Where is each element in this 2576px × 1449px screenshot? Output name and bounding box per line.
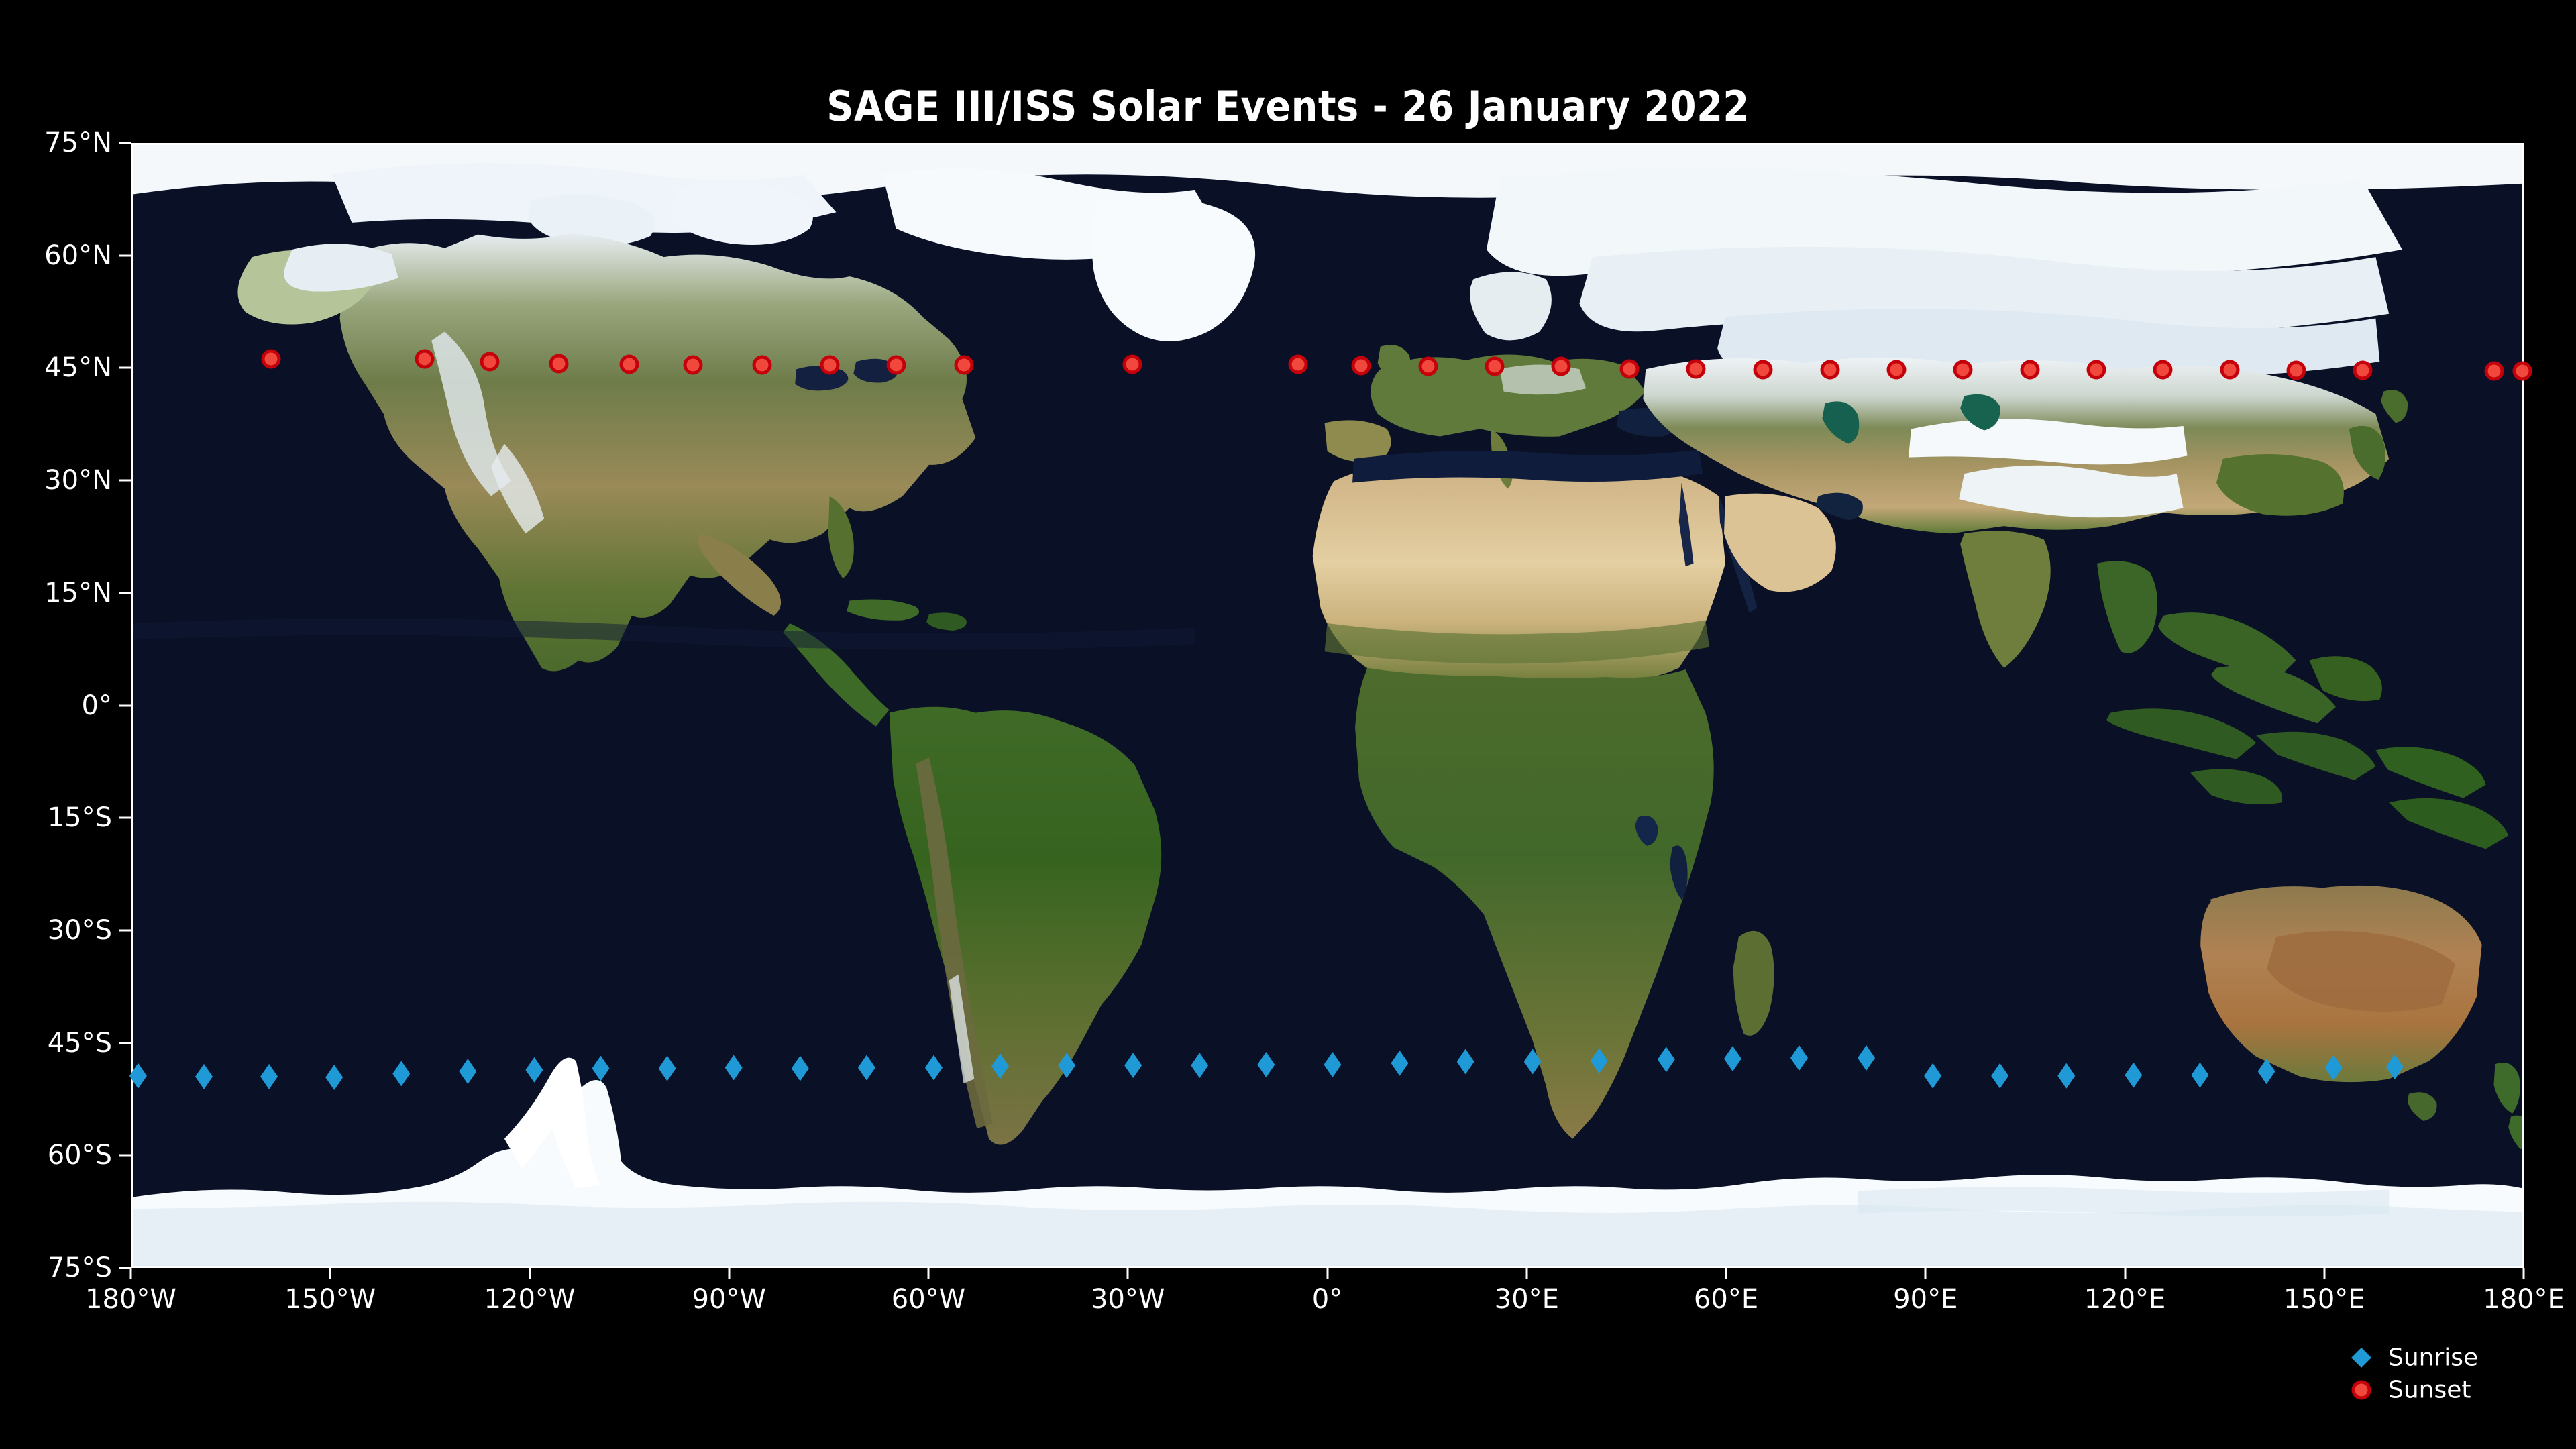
sunset-marker[interactable] xyxy=(484,356,496,368)
x-tick-label: 60°W xyxy=(892,1284,965,1315)
x-tick-mark xyxy=(2124,1268,2126,1279)
sunset-legend-icon xyxy=(2355,1384,2368,1397)
y-tick-label: 75°S xyxy=(48,1252,112,1283)
x-tick-label: 60°E xyxy=(1694,1284,1758,1315)
y-tick-mark xyxy=(119,704,131,706)
y-tick-label: 15°S xyxy=(48,802,112,833)
sunset-marker[interactable] xyxy=(1890,363,1902,376)
legend: SunriseSunset xyxy=(2348,1342,2569,1406)
x-tick-mark xyxy=(1127,1268,1129,1279)
figure-root: SAGE III/ISS Solar Events - 26 January 2… xyxy=(0,0,2576,1449)
legend-item-sunrise[interactable]: Sunrise xyxy=(2348,1342,2569,1374)
sunset-marker[interactable] xyxy=(623,358,636,370)
y-tick-label: 45°N xyxy=(44,352,112,383)
y-tick-mark xyxy=(119,480,131,482)
y-tick-mark xyxy=(119,592,131,594)
sunset-marker[interactable] xyxy=(418,352,431,365)
x-tick-label: 90°E xyxy=(1893,1284,1957,1315)
x-tick-mark xyxy=(529,1268,531,1279)
sunset-marker[interactable] xyxy=(1623,362,1636,375)
x-tick-label: 90°W xyxy=(692,1284,766,1315)
legend-label: Sunset xyxy=(2388,1377,2471,1404)
x-tick-mark xyxy=(1525,1268,1527,1279)
x-tick-label: 150°W xyxy=(284,1284,376,1315)
sunset-marker[interactable] xyxy=(2156,363,2169,376)
sunrise-legend-icon xyxy=(2351,1348,2371,1368)
x-tick-label: 0° xyxy=(1312,1284,1342,1315)
x-tick-mark xyxy=(928,1268,930,1279)
page-title: SAGE III/ISS Solar Events - 26 January 2… xyxy=(0,82,2576,131)
y-tick-label: 30°N xyxy=(44,465,112,496)
sunset-marker[interactable] xyxy=(687,358,700,371)
sunset-marker[interactable] xyxy=(2090,363,2102,376)
x-tick-label: 150°E xyxy=(2284,1284,2365,1315)
y-tick-mark xyxy=(119,817,131,819)
sunset-marker[interactable] xyxy=(1823,363,1836,376)
legend-label: Sunrise xyxy=(2388,1344,2478,1372)
sunset-marker[interactable] xyxy=(1690,362,1703,375)
sunset-marker[interactable] xyxy=(1355,360,1368,372)
y-tick-mark xyxy=(119,1155,131,1157)
x-tick-label: 180°E xyxy=(2483,1284,2565,1315)
sunset-marker[interactable] xyxy=(2488,364,2501,377)
y-tick-label: 60°N xyxy=(44,240,112,271)
legend-item-sunset[interactable]: Sunset xyxy=(2348,1374,2569,1406)
y-tick-label: 15°N xyxy=(44,578,112,608)
sunset-marker[interactable] xyxy=(2023,363,2036,376)
y-tick-label: 60°S xyxy=(48,1140,112,1171)
sunset-marker[interactable] xyxy=(1757,363,1770,376)
sunset-marker[interactable] xyxy=(1555,360,1568,373)
x-tick-label: 30°E xyxy=(1495,1284,1559,1315)
y-tick-label: 75°N xyxy=(44,127,112,158)
sunset-marker[interactable] xyxy=(265,352,278,365)
y-tick-mark xyxy=(119,142,131,144)
x-tick-mark xyxy=(1725,1268,1727,1279)
world-map-image xyxy=(133,145,2522,1266)
sunset-marker[interactable] xyxy=(2516,364,2529,377)
x-tick-mark xyxy=(2323,1268,2325,1279)
sunset-marker[interactable] xyxy=(2290,364,2303,376)
sunset-marker[interactable] xyxy=(824,358,837,371)
y-tick-mark xyxy=(119,367,131,369)
x-tick-label: 120°E xyxy=(2084,1284,2166,1315)
x-tick-mark xyxy=(130,1268,132,1279)
y-tick-mark xyxy=(119,1267,131,1269)
sunset-marker[interactable] xyxy=(1956,363,1969,376)
sunset-marker[interactable] xyxy=(2224,363,2237,376)
x-tick-label: 120°W xyxy=(484,1284,576,1315)
map-plot-area[interactable] xyxy=(131,143,2524,1268)
x-tick-mark xyxy=(329,1268,331,1279)
x-tick-mark xyxy=(1925,1268,1927,1279)
sunset-marker[interactable] xyxy=(756,358,769,371)
sunset-marker[interactable] xyxy=(1489,360,1501,373)
sunset-marker[interactable] xyxy=(553,357,566,370)
x-tick-label: 180°W xyxy=(85,1284,176,1315)
sunset-marker[interactable] xyxy=(1291,358,1304,370)
x-tick-mark xyxy=(2523,1268,2525,1279)
sunset-marker[interactable] xyxy=(1126,358,1139,370)
y-tick-label: 30°S xyxy=(48,915,112,946)
y-tick-mark xyxy=(119,1042,131,1044)
y-tick-label: 0° xyxy=(82,690,112,721)
sunset-marker[interactable] xyxy=(957,358,970,371)
sunset-marker[interactable] xyxy=(1422,360,1435,373)
sunset-marker[interactable] xyxy=(890,358,903,371)
sunset-marker[interactable] xyxy=(2357,364,2369,376)
x-tick-label: 30°W xyxy=(1091,1284,1165,1315)
y-tick-mark xyxy=(119,254,131,256)
y-tick-mark xyxy=(119,929,131,931)
x-tick-mark xyxy=(728,1268,730,1279)
x-tick-mark xyxy=(1326,1268,1328,1279)
y-tick-label: 45°S xyxy=(48,1028,112,1059)
